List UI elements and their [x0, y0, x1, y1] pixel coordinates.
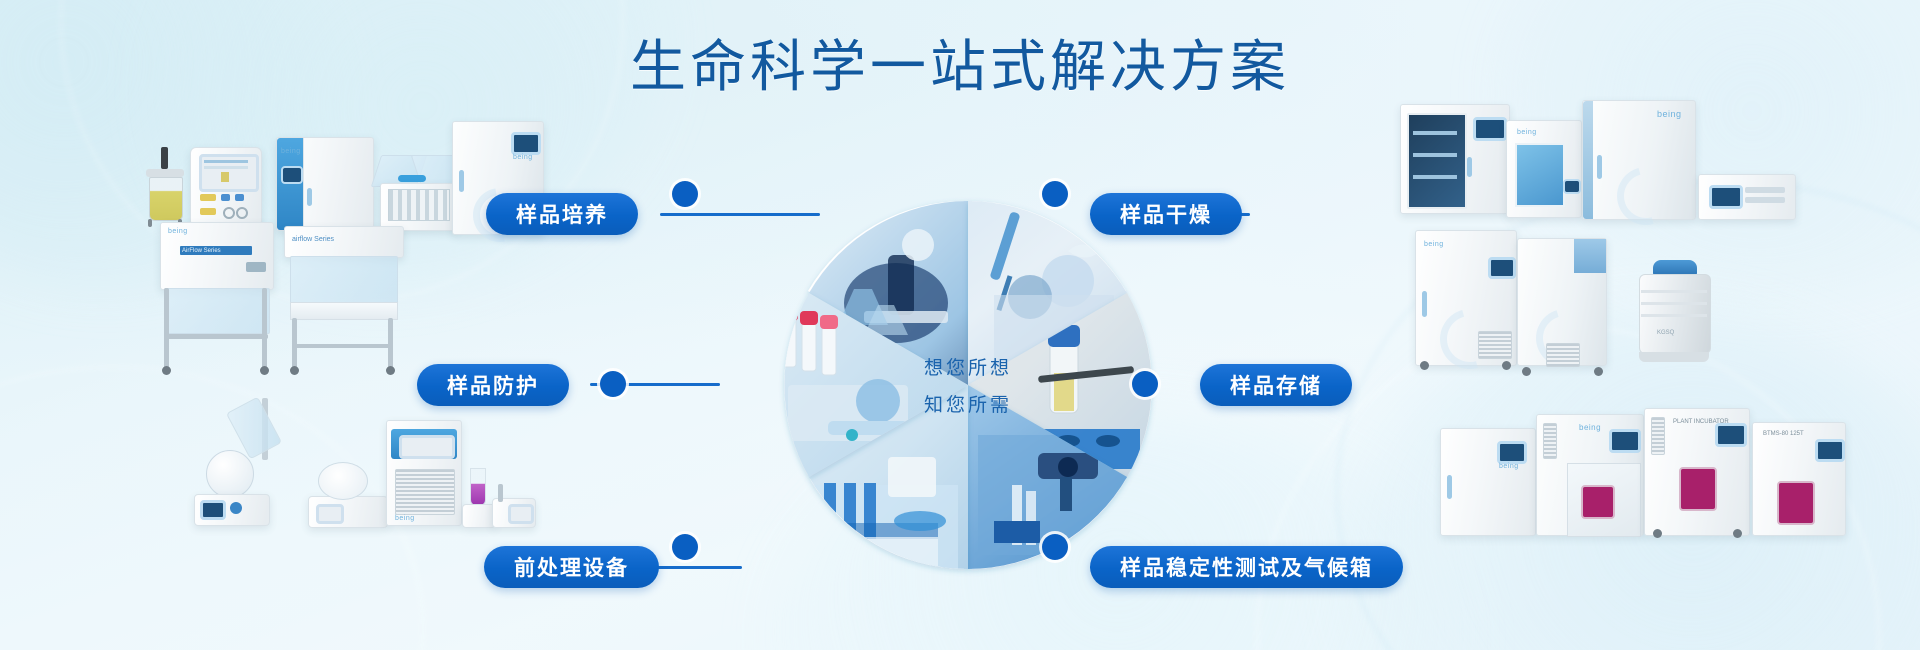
petal-wheel	[768, 185, 1168, 585]
climate-chamber: being	[1536, 414, 1644, 536]
badge-sample-culture[interactable]: 样品培养	[486, 193, 638, 235]
hot-air-oven: being	[1582, 100, 1696, 220]
co2-incubator: being	[276, 137, 374, 231]
equipment-group-stability: being being PLANT INCUBATOR BTMS-80 125T	[1440, 400, 1860, 536]
page-title: 生命科学一站式解决方案	[0, 36, 1920, 98]
stability-chamber: being	[1440, 428, 1536, 536]
equipment-group-storage: being KGSQ	[1415, 228, 1815, 378]
shaking-incubator	[374, 155, 460, 229]
bioreactor-vessel	[144, 153, 186, 223]
equipment-group-culture: being being	[140, 115, 490, 225]
airflow-clean-bench: being AirFlow Series	[160, 222, 272, 372]
control-console	[190, 147, 262, 227]
badge-sample-drying[interactable]: 样品干燥	[1090, 193, 1242, 235]
petal-wheel-svg	[768, 185, 1168, 585]
liquid-nitrogen-tank: KGSQ	[1631, 260, 1717, 376]
vortex-mixer	[462, 468, 494, 526]
homogenizer	[492, 484, 534, 526]
dot-stability-climate[interactable]	[1042, 534, 1068, 560]
dot-sample-culture[interactable]	[672, 181, 698, 207]
dot-sample-storage[interactable]	[1132, 371, 1158, 397]
plant-growth-chamber: PLANT INCUBATOR	[1644, 408, 1750, 536]
equipment-group-protection: being AirFlow Series airflow Series	[160, 222, 410, 372]
equipment-group-drying: being being	[1400, 100, 1810, 230]
connector-sample-culture	[660, 213, 820, 216]
bench-top-dryer	[1698, 174, 1796, 220]
badge-stability-climate[interactable]: 样品稳定性测试及气候箱	[1090, 546, 1403, 588]
blue-drying-cabinet: being	[1506, 120, 1582, 218]
dot-sample-protection[interactable]	[600, 371, 626, 397]
badge-sample-protection[interactable]: 样品防护	[417, 364, 569, 406]
vacuum-drying-oven	[1400, 104, 1510, 214]
chiller-unit: being	[386, 420, 462, 526]
dot-sample-drying[interactable]	[1042, 181, 1068, 207]
equipment-group-pretreatment: being	[190, 398, 530, 528]
badge-pretreatment[interactable]: 前处理设备	[484, 546, 659, 588]
banner-root: 生命科学一站式解决方案 being	[0, 0, 1920, 650]
compact-test-chamber: BTMS-80 125T	[1752, 422, 1846, 536]
ultra-low-freezer: being	[1415, 230, 1517, 366]
magnetic-stirrer	[308, 460, 386, 526]
biological-safety-cabinet: airflow Series	[284, 226, 402, 372]
rotary-evaporator	[190, 398, 320, 528]
dot-pretreatment[interactable]	[672, 534, 698, 560]
badge-sample-storage[interactable]: 样品存储	[1200, 364, 1352, 406]
upright-freezer	[1517, 238, 1607, 366]
